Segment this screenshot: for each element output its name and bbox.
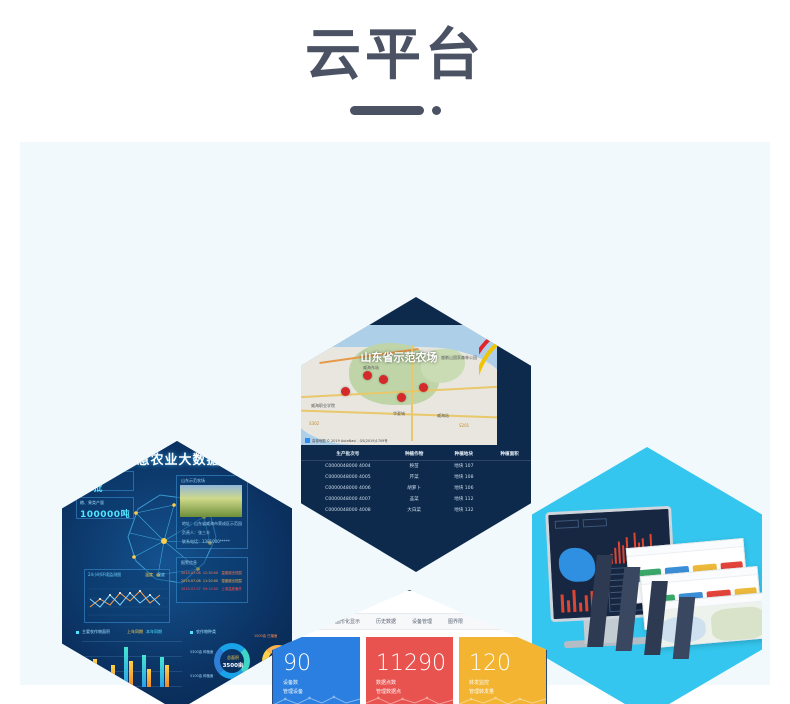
screen-widget [583, 518, 607, 527]
table-row[interactable]: C0000048000 4008 大白菜 地块 132 [301, 505, 531, 516]
map-marker[interactable] [379, 375, 388, 384]
card-title: 报警信息 [181, 560, 247, 566]
map-label: 崑嵛山国家森林公园 [441, 355, 477, 361]
legend-item: 上年同期 [127, 629, 143, 635]
nav-item-devices[interactable]: 设备管理 [412, 618, 432, 625]
map-label: 威海职业学院 [311, 403, 335, 409]
screen-widget [555, 520, 579, 529]
floating-map-sheet[interactable] [654, 592, 762, 648]
stat-value: 100000吨 [80, 507, 133, 520]
stat-label: 粮、果类产量 [80, 500, 133, 506]
stat-label-1: 数据点数 [376, 679, 396, 686]
table-row[interactable]: C0000048000 4007 韭菜 地块 112 [301, 494, 531, 505]
map-marker[interactable] [341, 387, 350, 396]
map-label: 威海站 [437, 413, 449, 419]
table-row[interactable]: C0000048000 4004 秧苗 地块 107 [301, 461, 531, 472]
chart-title: 主要农作物面积 [82, 629, 110, 635]
map-label: 华夏城 [393, 411, 405, 417]
divider-dot-icon [432, 106, 441, 115]
bi-header: 智慧农业大数据平台 [62, 447, 292, 469]
batch-table: 生产批次号 种植作物 种植地块 种植面积 C0000048000 4004 秧苗… [301, 449, 531, 516]
table-row[interactable]: C0000048000 4006 胡萝卜 地块 106 [301, 483, 531, 494]
bar-chart-card[interactable]: 主要农作物面积 上年同期 本年同期 [76, 629, 184, 691]
map-marker[interactable] [363, 371, 372, 380]
map-title: 山东省示范农场 [361, 349, 438, 365]
cell-area [488, 472, 531, 483]
card-title: 山东示范农场 [181, 478, 247, 484]
cell-crop: 芹菜 [389, 472, 440, 483]
stat-card-devices[interactable]: 90 设备数 管理设备 [273, 637, 360, 704]
dashboard-page-title: 物联监测 [351, 601, 371, 608]
stat-label: 总生产批次数 [80, 474, 133, 480]
map-label: 威海东站 [363, 365, 379, 371]
cell-plot: 地块 112 [439, 494, 488, 505]
stat-value: 11290 [376, 651, 446, 676]
stat-card-row: 90 设备数 管理设备 11290 数据点数 管理数据点 [273, 637, 546, 704]
bullet-icon [190, 631, 193, 634]
cell-area [488, 461, 531, 472]
cell-plot: 地块 108 [439, 472, 488, 483]
legend-item: 湿度 [157, 572, 165, 578]
stat-card-batches[interactable]: 总生产批次数 20批 [76, 471, 134, 491]
cell-crop: 大白菜 [389, 505, 440, 516]
cell-crop: 韭菜 [389, 494, 440, 505]
autonavi-logo-icon [305, 438, 310, 443]
stat-label-1: 转发监控 [469, 679, 489, 686]
map-road-label: S201 [459, 423, 469, 428]
device-monitor-hexagon[interactable] [532, 447, 762, 704]
legend-item: 本年同期 [146, 629, 162, 635]
cell-plot: 地块 107 [439, 461, 488, 472]
card-sparkline [459, 691, 546, 704]
donut-label: 5300亩 种植面 [190, 649, 213, 654]
title-divider [350, 106, 441, 115]
decorative-stripes [479, 329, 531, 447]
stat-value: 120 [469, 651, 511, 676]
page-title: 云平台 [305, 28, 485, 84]
stat-value: 90 [283, 651, 311, 676]
card-sparkline [273, 691, 360, 704]
device-dashboard-hexagon[interactable]: 物联监测 图形化显示 历史数据 设备管理 图界限 90 设备数 管理设备 [272, 590, 547, 704]
chart-legend: 温度 湿度 [145, 572, 165, 578]
triangle-icon [105, 455, 117, 462]
alarm-row: 2019-07-08 12:30:00 温度超出范围 [181, 570, 247, 575]
farm-photo [180, 485, 242, 517]
bullet-icon [76, 631, 79, 634]
stat-card-datapoints[interactable]: 11290 数据点数 管理数据点 [366, 637, 453, 704]
cell-area [488, 483, 531, 494]
line-chart-card[interactable]: 24小时环境监测图 温度 湿度 [84, 569, 170, 623]
cell-plot: 地块 132 [439, 505, 488, 516]
farm-details: 地址：山东省威海市荣成区示范园 负责人：张三丰 联系电话：1381000****… [182, 521, 246, 545]
nav-item-geofence[interactable]: 图界限 [448, 618, 463, 625]
alarm-row: 2019-07-08 11:20:00 湿度超出范围 [181, 578, 247, 583]
stat-card-forward[interactable]: 120 转发监控 管理转发量 [459, 637, 546, 704]
stat-value: 20批 [80, 481, 133, 494]
farm-map[interactable]: 山东省示范农场 威海东站 崑嵛山国家森林公园 威海职业学院 华夏城 威海站 S3… [301, 325, 497, 445]
chart-title: 农作物种类 [196, 629, 216, 635]
legend-item: 温度 [145, 572, 153, 578]
cell-batch: C0000048000 4008 [307, 505, 389, 516]
stat-label-1: 设备数 [283, 679, 298, 686]
column-header: 种植作物 [389, 449, 440, 460]
content-panel: 山东省示范农场 威海东站 崑嵛山国家森林公园 威海职业学院 华夏城 威海站 S3… [20, 142, 770, 685]
table-row[interactable]: C0000048000 4005 芹菜 地块 108 [301, 472, 531, 483]
page-root: 云平台 山东省示范农场 [0, 0, 790, 704]
bi-title: 智慧农业大数据平台 [122, 449, 248, 468]
cell-crop: 胡萝卜 [389, 483, 440, 494]
nav-item-history[interactable]: 历史数据 [376, 618, 396, 625]
cell-batch: C0000048000 4007 [307, 494, 389, 505]
cell-batch: C0000048000 4004 [307, 461, 389, 472]
donut-chart-card[interactable]: 农作物种类 总面积 3500亩 5300亩 种植面 5100亩 种植面 1500… [190, 629, 282, 691]
column-header: 种植地块 [439, 449, 488, 460]
bar-chart-plot [82, 641, 182, 687]
card-sparkline [366, 691, 453, 704]
donut-label: 1500亩 已播面 [254, 633, 277, 638]
dashboard-nav: 图形化显示 历史数据 设备管理 图界限 [273, 613, 546, 630]
cell-area [488, 505, 531, 516]
cell-crop: 秧苗 [389, 461, 440, 472]
divider-bar-icon [350, 106, 424, 115]
map-road-label: S302 [309, 421, 319, 426]
map-marker[interactable] [397, 393, 406, 402]
donut-center: 总面积 3500亩 [220, 655, 246, 669]
column-header: 生产批次号 [307, 449, 389, 460]
traceability-map-hexagon[interactable]: 山东省示范农场 威海东站 崑嵛山国家森林公园 威海职业学院 华夏城 威海站 S3… [301, 297, 531, 572]
cell-batch: C0000048000 4006 [307, 483, 389, 494]
detail-line: 负责人：张三丰 [182, 530, 246, 536]
alarm-card[interactable]: 报警信息 2019-07-08 12:30:00 温度超出范围 2019-07-… [176, 557, 248, 603]
map-attribution: 高德地图 © 2019 AutoNavi - GS(2019)1709号 [305, 438, 388, 443]
alarm-row: 2019-07-07 09:10:00 土壤温度偏低 [181, 586, 247, 591]
page-header: 云平台 [0, 0, 790, 142]
cell-batch: C0000048000 4005 [307, 472, 389, 483]
nav-item-graphical[interactable]: 图形化显示 [335, 618, 360, 625]
detail-line: 地址：山东省威海市荣成区示范园 [182, 521, 246, 527]
stat-card-output[interactable]: 粮、果类产量 100000吨 [76, 497, 134, 519]
cell-area [488, 494, 531, 505]
column-header: 种植面积 [488, 449, 531, 460]
map-marker[interactable] [419, 383, 428, 392]
smart-agriculture-bi-hexagon[interactable]: 智慧农业大数据平台 [62, 441, 292, 704]
donut-label: 5100亩 种植面 [190, 673, 213, 678]
cell-plot: 地块 106 [439, 483, 488, 494]
detail-line: 联系电话：1381000***** [182, 539, 246, 545]
table-header-row: 生产批次号 种植作物 种植地块 种植面积 [301, 449, 531, 461]
